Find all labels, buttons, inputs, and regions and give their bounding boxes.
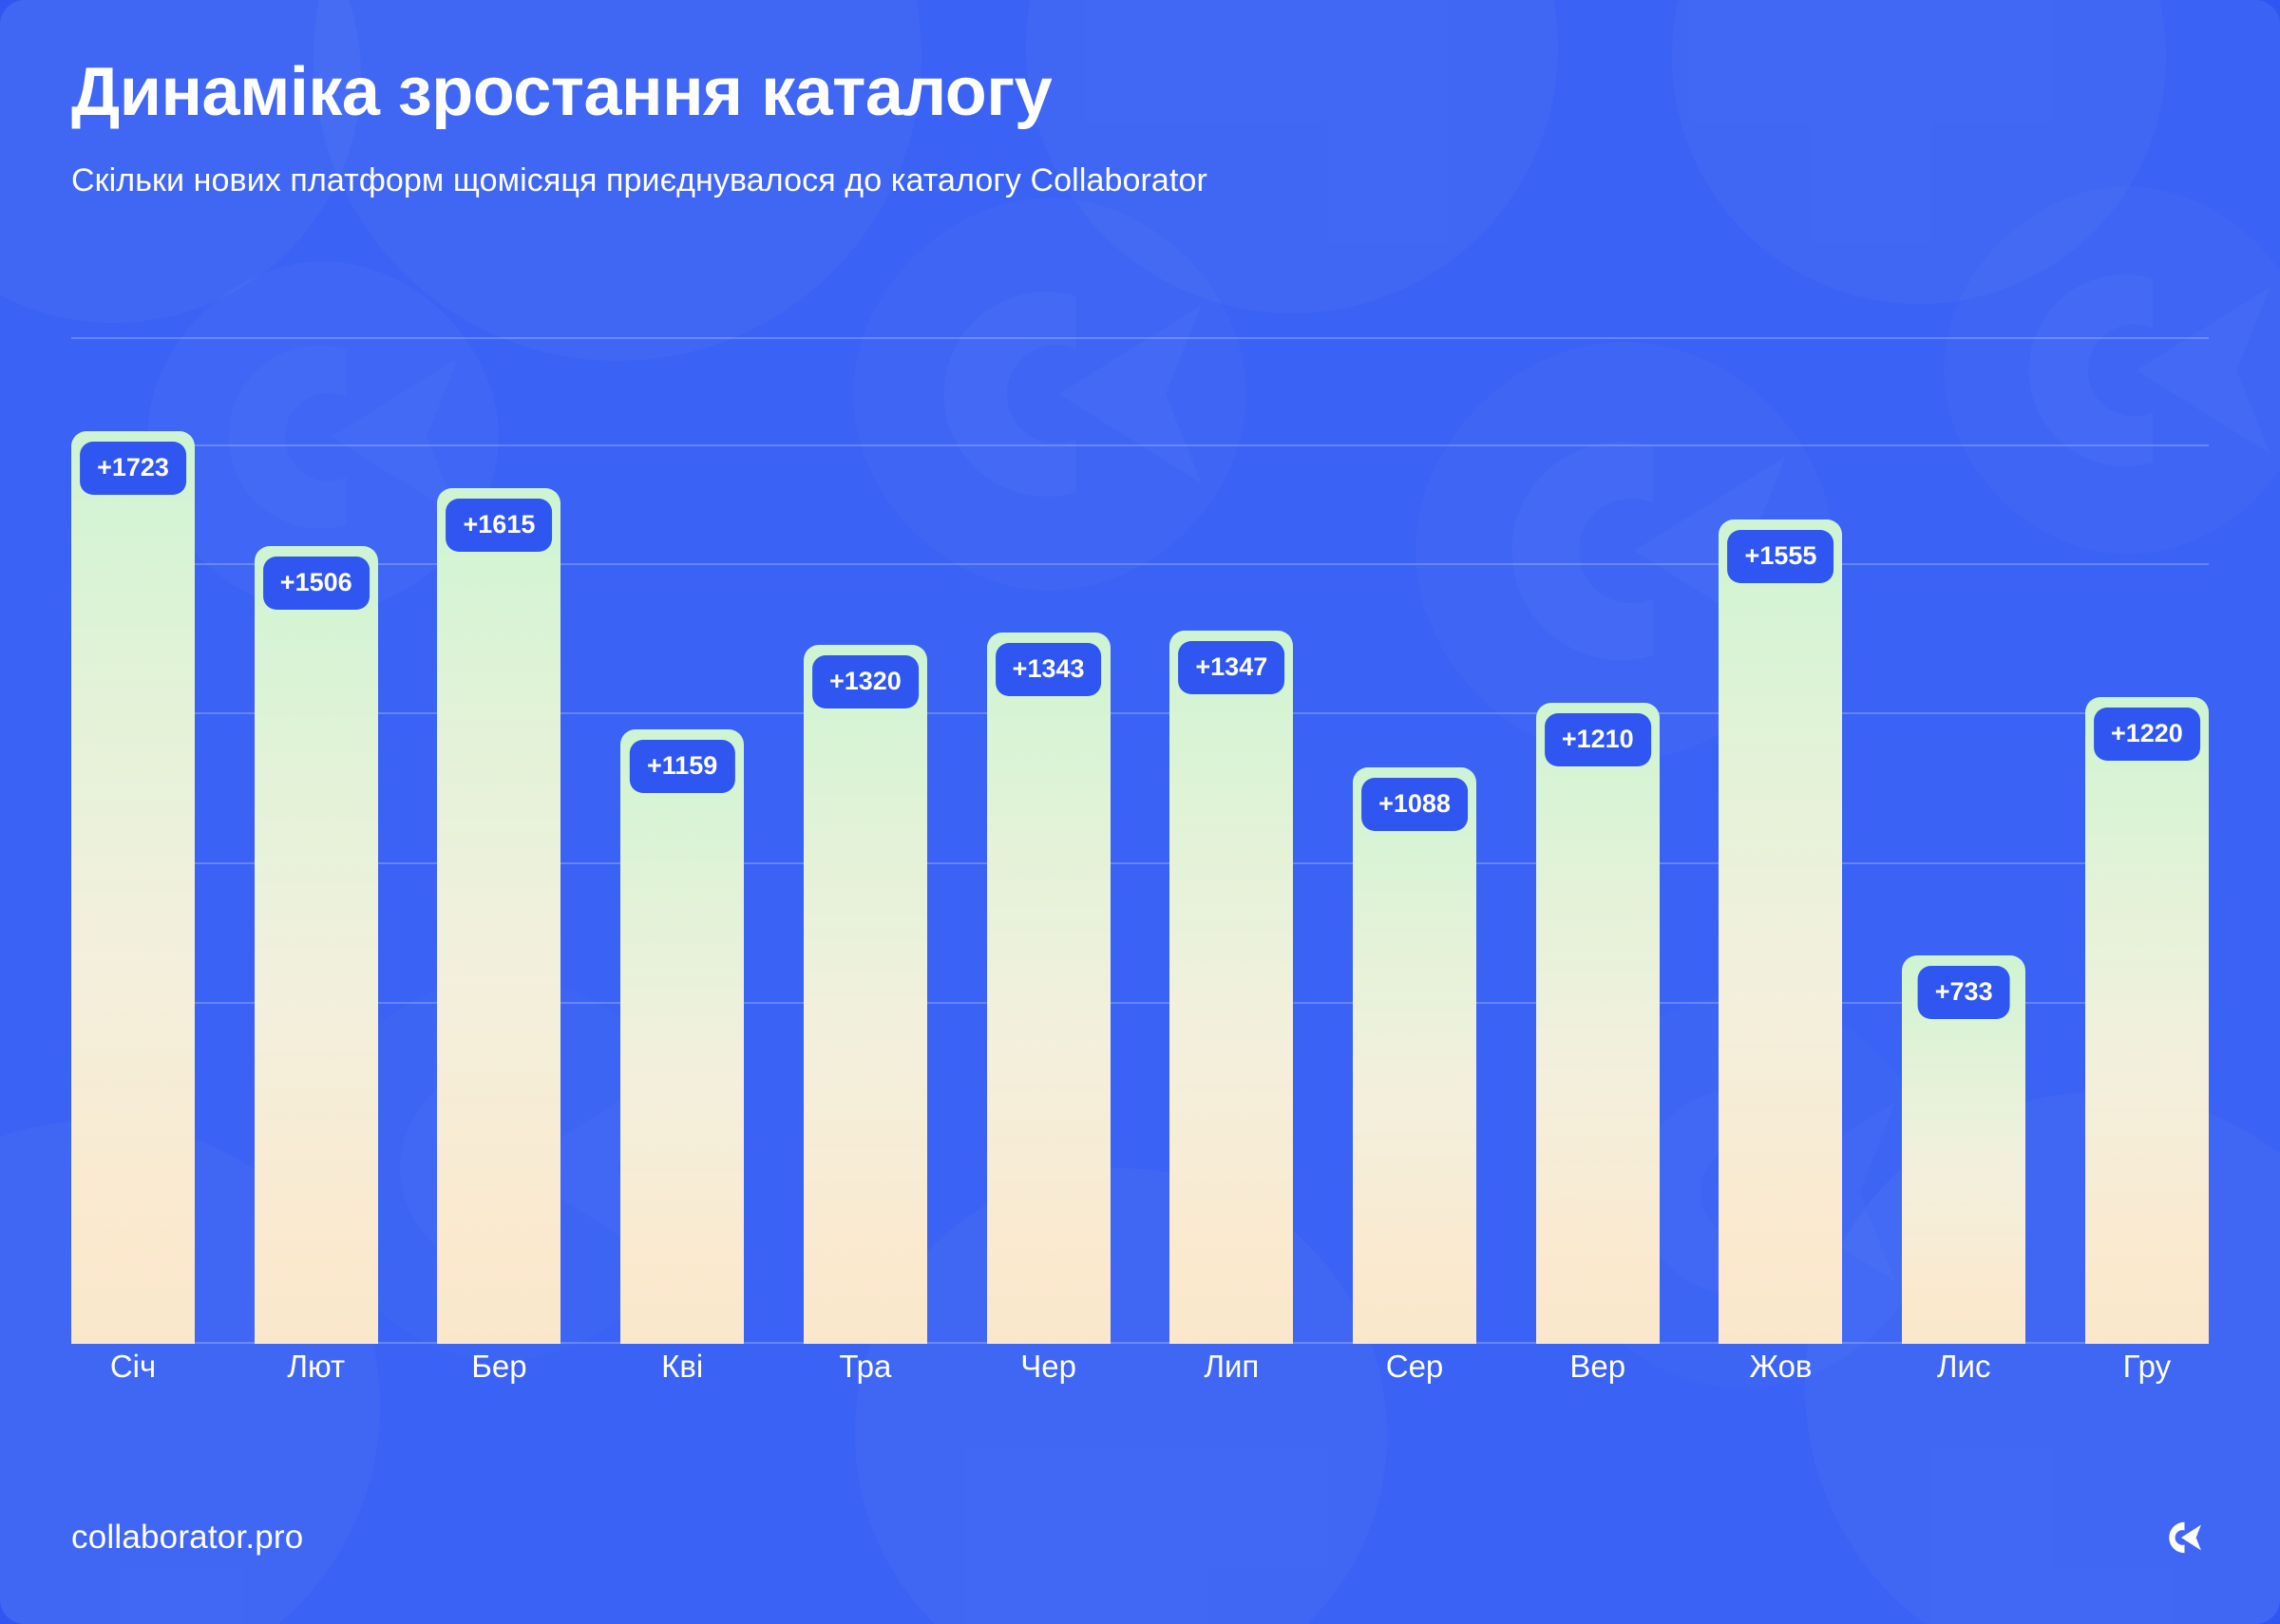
bar-value-badge: +733	[1918, 966, 2010, 1019]
bar-slot: +1088	[1353, 337, 1476, 1344]
x-axis-tick: Гру	[2085, 1349, 2209, 1385]
x-axis-tick: Бер	[437, 1349, 560, 1385]
bar-value-badge: +1347	[1178, 641, 1284, 694]
x-axis-tick: Вер	[1536, 1349, 1660, 1385]
bar[interactable]: +1320	[804, 645, 927, 1344]
page-subtitle: Скільки нових платформ щомісяця приєднув…	[71, 162, 2218, 199]
bar[interactable]: +1555	[1719, 519, 1842, 1344]
bar[interactable]: +1220	[2085, 697, 2209, 1344]
bar-value-badge: +1210	[1545, 713, 1651, 766]
x-axis-labels: СічЛютБерКвіТраЧерЛипСерВерЖовЛисГру	[71, 1349, 2209, 1385]
bar-slot: +1159	[620, 337, 744, 1344]
bar[interactable]: +1615	[437, 488, 560, 1344]
bar[interactable]: +1343	[987, 633, 1111, 1344]
bar-slot: +733	[1902, 337, 2025, 1344]
bar[interactable]: +1159	[620, 729, 744, 1344]
bar[interactable]: +733	[1902, 955, 2025, 1344]
bar-series: +1723+1506+1615+1159+1320+1343+1347+1088…	[71, 337, 2209, 1344]
bar-value-badge: +1343	[996, 643, 1102, 696]
bar-slot: +1555	[1719, 337, 1842, 1344]
bar[interactable]: +1210	[1536, 703, 1660, 1344]
bar-slot: +1615	[437, 337, 560, 1344]
bar-slot: +1320	[804, 337, 927, 1344]
bar-slot: +1347	[1169, 337, 1293, 1344]
plot-area: +1723+1506+1615+1159+1320+1343+1347+1088…	[71, 337, 2209, 1344]
x-axis-tick: Лип	[1169, 1349, 1293, 1385]
bar-slot: +1506	[255, 337, 378, 1344]
chart-canvas: Динаміка зростання каталогу Скільки нови…	[0, 0, 2280, 1624]
site-url[interactable]: collaborator.pro	[71, 1519, 303, 1557]
page-title: Динаміка зростання каталогу	[71, 55, 2218, 130]
bar[interactable]: +1723	[71, 431, 195, 1344]
bar[interactable]: +1347	[1169, 631, 1293, 1344]
bar-value-badge: +1159	[630, 740, 734, 793]
x-axis-tick: Лис	[1902, 1349, 2025, 1385]
bar-value-badge: +1615	[446, 499, 553, 552]
bar[interactable]: +1088	[1353, 767, 1476, 1344]
x-axis-tick: Лют	[255, 1349, 378, 1385]
bar-value-badge: +1320	[812, 655, 919, 708]
chart-footer: collaborator.pro	[71, 1510, 2209, 1565]
bar-slot: +1210	[1536, 337, 1660, 1344]
bar-slot: +1723	[71, 337, 195, 1344]
bar-value-badge: +1555	[1728, 530, 1834, 583]
x-axis-tick: Січ	[71, 1349, 195, 1385]
x-axis-tick: Кві	[620, 1349, 744, 1385]
chart-header: Динаміка зростання каталогу Скільки нови…	[71, 55, 2218, 199]
bar-value-badge: +1723	[80, 442, 186, 495]
bar-value-badge: +1088	[1361, 778, 1468, 831]
bar[interactable]: +1506	[255, 546, 378, 1344]
bar-slot: +1343	[987, 337, 1111, 1344]
x-axis-tick: Жов	[1719, 1349, 1842, 1385]
x-axis-tick: Сер	[1353, 1349, 1476, 1385]
x-axis-tick: Тра	[804, 1349, 927, 1385]
bar-value-badge: +1220	[2094, 708, 2200, 761]
collaborator-logo-icon	[2154, 1510, 2209, 1565]
bar-value-badge: +1506	[263, 557, 370, 610]
bar-slot: +1220	[2085, 337, 2209, 1344]
x-axis-tick: Чер	[987, 1349, 1111, 1385]
